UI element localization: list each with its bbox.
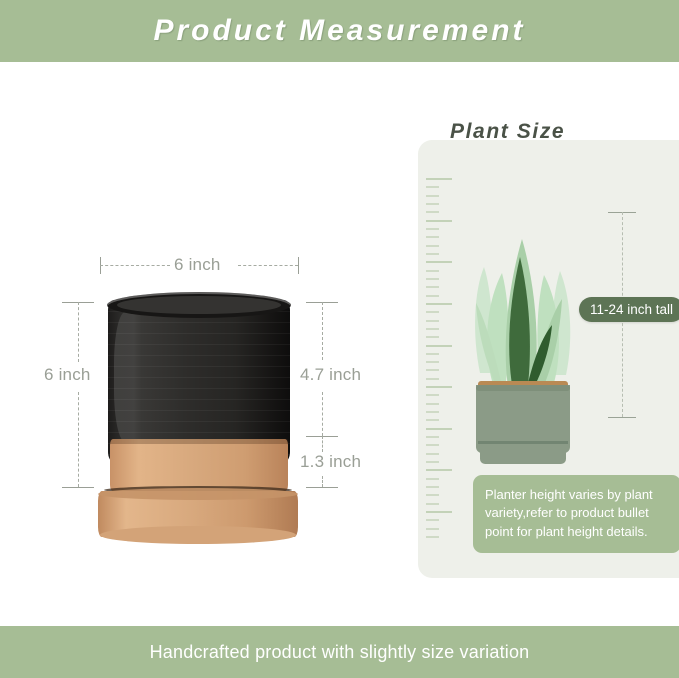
ruler-tick-minor <box>426 328 439 330</box>
saucer-height-line-bottom <box>322 476 323 487</box>
planter-tan-base <box>110 439 288 493</box>
ruler-tick-minor <box>426 394 439 396</box>
ruler-tick-minor <box>426 228 439 230</box>
ruler-tick-minor <box>426 295 439 297</box>
width-dim-line-right <box>238 265 298 266</box>
planter-base-shadow <box>110 439 288 444</box>
vertical-ruler <box>426 178 460 536</box>
ruler-tick-minor <box>426 519 439 521</box>
ruler-tick-minor <box>426 528 439 530</box>
ruler-tick-minor <box>426 503 439 505</box>
ruler-tick-minor <box>426 486 439 488</box>
ruler-tick-minor <box>426 461 439 463</box>
ruler-tick-minor <box>426 536 439 538</box>
ruler-tick-minor <box>426 311 439 313</box>
pot-height-line-top <box>322 302 323 360</box>
saucer-bottom <box>100 526 296 544</box>
ruler-tick-minor <box>426 203 439 205</box>
plant-height-badge: 11-24 inch tall <box>579 297 679 322</box>
ruler-tick-major <box>426 386 452 388</box>
ruler-tick-major <box>426 303 452 305</box>
ruler-tick-major <box>426 345 452 347</box>
pot-height-line-bottom <box>322 392 323 436</box>
ruler-tick-major <box>426 469 452 471</box>
ruler-tick-major <box>426 220 452 222</box>
ruler-tick-minor <box>426 453 439 455</box>
plant-height-cap-bottom <box>608 417 636 418</box>
ruler-tick-minor <box>426 494 439 496</box>
pot-height-label: 4.7 inch <box>300 365 361 385</box>
note-line-3: point for plant height details. <box>485 523 669 541</box>
ruler-tick-minor <box>426 378 439 380</box>
ruler-tick-minor <box>426 419 439 421</box>
width-dim-label: 6 inch <box>174 255 221 275</box>
planter-interior <box>117 296 281 314</box>
page-title: Product Measurement <box>153 14 525 48</box>
ruler-tick-major <box>426 428 452 430</box>
ruler-tick-minor <box>426 211 439 213</box>
snake-plant-illustration <box>458 195 588 485</box>
ruler-tick-minor <box>426 444 439 446</box>
product-photo-zone: 6 inch 6 inch 4.7 inch <box>0 62 400 626</box>
width-dim-cap-right <box>298 257 299 274</box>
ruler-tick-minor <box>426 478 439 480</box>
ruler-tick-minor <box>426 186 439 188</box>
ruler-tick-minor <box>426 336 439 338</box>
ruler-tick-minor <box>426 245 439 247</box>
ruler-tick-minor <box>426 369 439 371</box>
ruler-tick-minor <box>426 320 439 322</box>
total-height-line-top <box>78 302 79 362</box>
planter-saucer <box>98 486 298 548</box>
total-height-cap-bottom <box>62 487 94 488</box>
ruler-tick-major <box>426 178 452 180</box>
ruler-tick-minor <box>426 278 439 280</box>
ruler-tick-minor <box>426 253 439 255</box>
ruler-tick-minor <box>426 270 439 272</box>
plant-size-panel: 11-24 inch tall Planter height varies by… <box>418 140 679 578</box>
planter-highlight <box>114 312 142 442</box>
ruler-tick-minor <box>426 411 439 413</box>
total-height-line-bottom <box>78 392 79 487</box>
plant-height-note: Planter height varies by plant variety,r… <box>473 475 679 553</box>
ruler-tick-minor <box>426 286 439 288</box>
saucer-height-label: 1.3 inch <box>300 452 361 472</box>
footer-banner: Handcrafted product with slightly size v… <box>0 626 679 678</box>
header-banner: Product Measurement <box>0 0 679 62</box>
saucer-height-cap-bottom <box>306 487 338 488</box>
note-line-1: Planter height varies by plant <box>485 486 669 504</box>
footer-note: Handcrafted product with slightly size v… <box>150 642 530 663</box>
saucer-height-line-top <box>322 436 323 452</box>
product-measurement-infographic: Product Measurement 6 inch 6 inch <box>0 0 679 678</box>
total-height-label: 6 inch <box>44 365 91 385</box>
width-dim-line-left <box>100 265 170 266</box>
ruler-tick-minor <box>426 361 439 363</box>
ruler-tick-minor <box>426 353 439 355</box>
ruler-tick-minor <box>426 236 439 238</box>
ruler-tick-minor <box>426 436 439 438</box>
ruler-tick-major <box>426 511 452 513</box>
saucer-rim <box>98 488 298 500</box>
ruler-tick-minor <box>426 195 439 197</box>
ruler-tick-minor <box>426 403 439 405</box>
ruler-tick-major <box>426 261 452 263</box>
note-line-2: variety,refer to product bullet <box>485 504 669 522</box>
planter-tan-base-body <box>110 439 288 491</box>
